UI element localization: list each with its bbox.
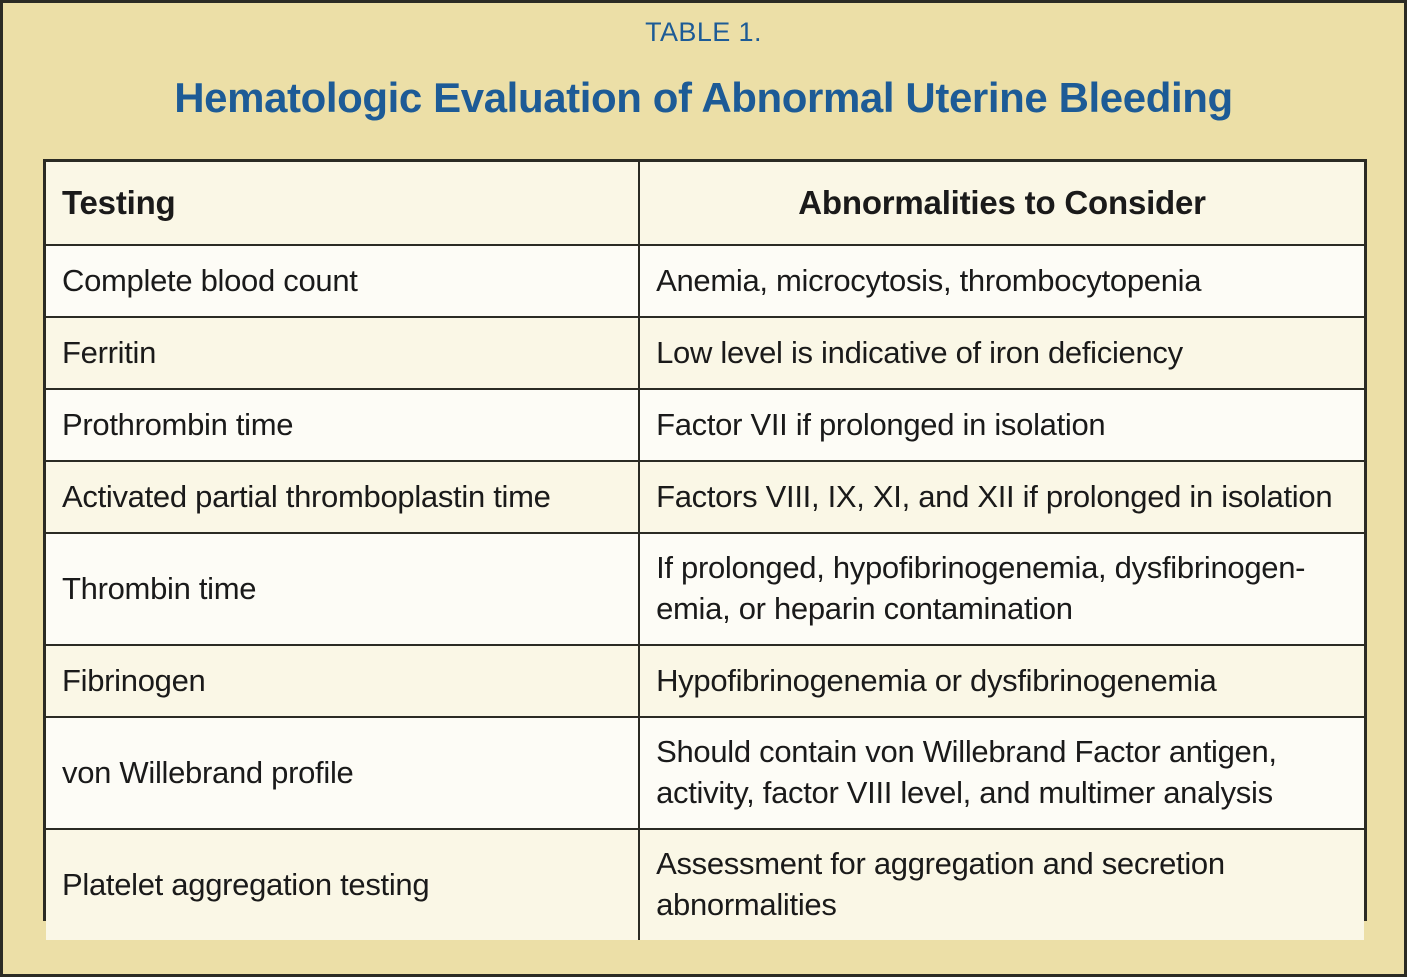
table-row: Activated partial thromboplastin timeFac… xyxy=(46,461,1364,533)
cell-abnormalities: Low level is indicative of iron deficien… xyxy=(639,317,1364,389)
table-number-label: TABLE 1. xyxy=(3,17,1404,48)
cell-abnormalities: Assessment for aggregation and secretion… xyxy=(639,829,1364,940)
column-header-abnormalities: Abnormalities to Consider xyxy=(639,162,1364,245)
cell-testing: Thrombin time xyxy=(46,533,639,645)
hematologic-evaluation-table: Testing Abnormalities to Consider Comple… xyxy=(46,162,1364,940)
table-body: Complete blood countAnemia, microcytosis… xyxy=(46,245,1364,940)
cell-testing: Prothrombin time xyxy=(46,389,639,461)
cell-testing: Ferritin xyxy=(46,317,639,389)
table-header-row: Testing Abnormalities to Consider xyxy=(46,162,1364,245)
table-figure-page: TABLE 1. Hematologic Evaluation of Abnor… xyxy=(0,0,1407,977)
data-table-container: Testing Abnormalities to Consider Comple… xyxy=(43,159,1367,921)
cell-abnormalities: Factors VIII, IX, XI, and XII if prolong… xyxy=(639,461,1364,533)
cell-abnormalities: Anemia, microcytosis, thrombocytopenia xyxy=(639,245,1364,317)
cell-testing: Activated partial thromboplastin time xyxy=(46,461,639,533)
cell-abnormalities: Should contain von Willebrand Factor ant… xyxy=(639,717,1364,829)
table-row: Thrombin timeIf prolonged, hypofibrinoge… xyxy=(46,533,1364,645)
cell-testing: von Willebrand profile xyxy=(46,717,639,829)
cell-testing: Fibrinogen xyxy=(46,645,639,717)
table-row: Prothrombin timeFactor VII if prolonged … xyxy=(46,389,1364,461)
cell-abnormalities: Hypofibrinogenemia or dysfibrinogenemia xyxy=(639,645,1364,717)
table-row: Platelet aggregation testingAssessment f… xyxy=(46,829,1364,940)
column-header-testing: Testing xyxy=(46,162,639,245)
figure-header: TABLE 1. Hematologic Evaluation of Abnor… xyxy=(3,3,1404,122)
cell-abnormalities: Factor VII if prolonged in isolation xyxy=(639,389,1364,461)
cell-abnormalities: If prolonged, hypofibrinogenemia, dysfib… xyxy=(639,533,1364,645)
page-title: Hematologic Evaluation of Abnormal Uteri… xyxy=(3,74,1404,122)
table-row: FerritinLow level is indicative of iron … xyxy=(46,317,1364,389)
cell-testing: Platelet aggregation testing xyxy=(46,829,639,940)
table-row: von Willebrand profileShould contain von… xyxy=(46,717,1364,829)
table-row: FibrinogenHypofibrinogenemia or dysfibri… xyxy=(46,645,1364,717)
cell-testing: Complete blood count xyxy=(46,245,639,317)
table-header: Testing Abnormalities to Consider xyxy=(46,162,1364,245)
table-row: Complete blood countAnemia, microcytosis… xyxy=(46,245,1364,317)
